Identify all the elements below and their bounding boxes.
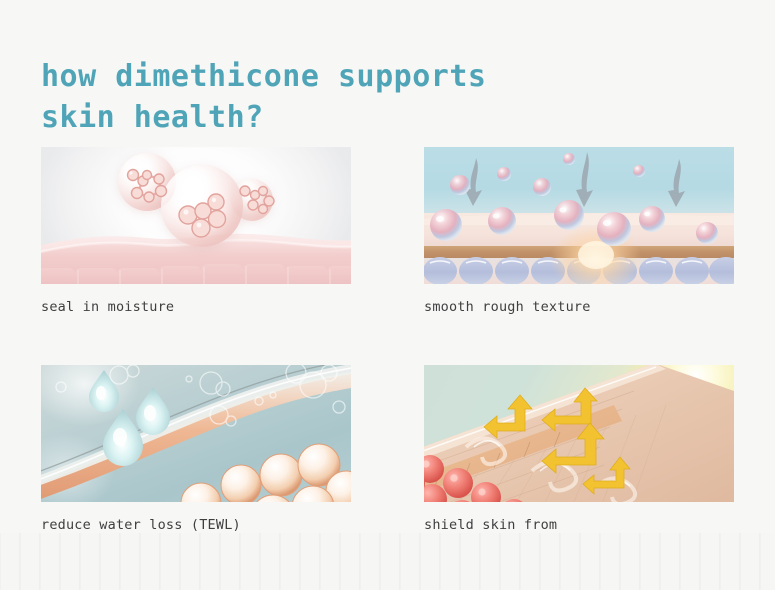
panel-row-1: seal in moisture xyxy=(41,147,734,317)
panel-row-2: reduce water loss (TEWL) xyxy=(41,365,734,554)
panel-grid: seal in moisture xyxy=(41,147,734,554)
illustration-seal-in-moisture xyxy=(41,147,351,284)
panel-seal-in-moisture[interactable]: seal in moisture xyxy=(41,147,351,317)
panel-caption: seal in moisture xyxy=(41,298,351,317)
tewl-barrier-graphic xyxy=(41,365,351,502)
illustration-shield-skin xyxy=(424,365,734,502)
panel-shield-skin[interactable]: shield skin from environmental stressors xyxy=(424,365,734,554)
infographic-page: how dimethicone supports skin health? xyxy=(0,0,775,590)
panel-caption: smooth rough texture xyxy=(424,298,734,317)
skin-smoothing-graphic xyxy=(424,147,734,284)
illustration-smooth-rough-texture xyxy=(424,147,734,284)
footer-stripe-pattern xyxy=(0,533,775,590)
panel-smooth-rough-texture[interactable]: smooth rough texture xyxy=(424,147,734,317)
illustration-reduce-water-loss xyxy=(41,365,351,502)
page-title: how dimethicone supports skin health? xyxy=(41,56,701,139)
uv-shield-graphic xyxy=(424,365,734,502)
panel-reduce-water-loss[interactable]: reduce water loss (TEWL) xyxy=(41,365,351,554)
silicone-molecule-diagram xyxy=(41,147,351,284)
